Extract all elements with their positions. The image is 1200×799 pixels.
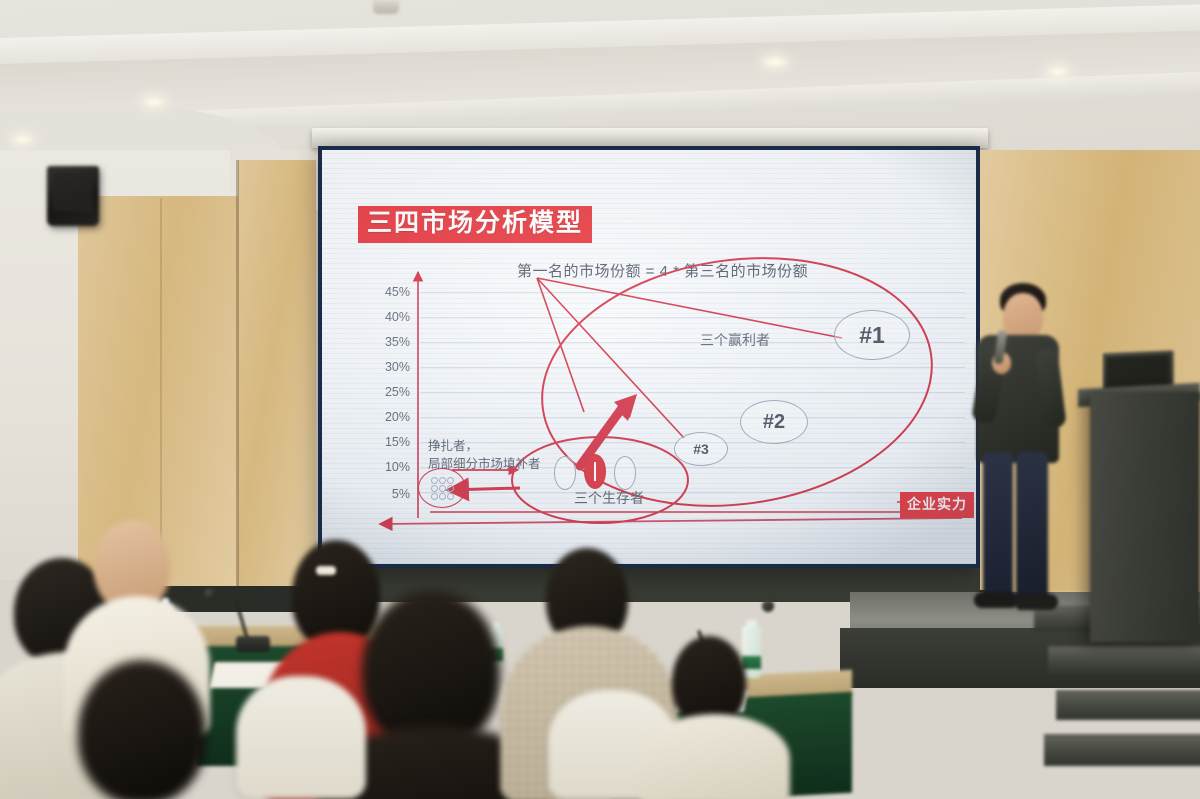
audience-member-shoulders <box>640 714 790 799</box>
wall-panel-seam <box>160 198 162 588</box>
survivors-group-label: 三个生存者 <box>574 488 644 508</box>
slide-canvas: 三四市场分析模型 第一名的市场份额 = 4 * 第三名的市场份额 45% 40%… <box>322 150 976 564</box>
podium <box>1090 392 1200 642</box>
strugglers-dot-grid <box>431 477 454 500</box>
node-rank-3: #3 <box>674 432 728 466</box>
node-rank-1: #1 <box>834 310 910 360</box>
hair-clip-icon <box>316 566 336 575</box>
presenter-head <box>1003 293 1043 341</box>
wall-speaker-icon <box>47 166 99 226</box>
projection-screen: 三四市场分析模型 第一名的市场份额 = 4 * 第三名的市场份额 45% 40%… <box>318 146 980 568</box>
survivor-node-highlighted <box>584 454 606 489</box>
stage-step <box>1056 690 1200 720</box>
wood-wall-panel <box>78 196 238 586</box>
downlight-icon <box>12 134 34 145</box>
strugglers-cluster-node <box>418 468 466 508</box>
wood-wall-panel <box>238 160 316 590</box>
presenter-shoe <box>974 592 1016 608</box>
stage-step <box>1044 734 1200 766</box>
node-rank-2: #2 <box>740 400 808 444</box>
microphone-base <box>236 636 270 652</box>
screen-housing <box>312 128 988 148</box>
conference-room-photo: 三四市场分析模型 第一名的市场份额 = 4 * 第三名的市场份额 45% 40%… <box>0 0 1200 799</box>
presenter-leg-right <box>1016 452 1048 602</box>
microphone-capsule-icon <box>762 600 774 612</box>
audience-member-head <box>78 660 206 799</box>
downlight-icon <box>762 56 788 68</box>
downlight-icon <box>1046 66 1070 78</box>
downlight-icon <box>142 96 166 108</box>
survivor-node <box>614 456 636 490</box>
x-axis-label: 企业实力 <box>900 492 974 518</box>
audience-chair <box>236 676 366 799</box>
strugglers-group-label-line1: 挣扎者， <box>428 438 478 455</box>
survivor-node <box>554 456 576 490</box>
sprinkler-head-icon <box>373 0 399 14</box>
presenter-shoe <box>1016 594 1058 610</box>
microphone-capsule-icon <box>204 588 216 600</box>
presenter-leg-left <box>983 452 1013 600</box>
winners-group-label: 三个赢利者 <box>700 330 770 350</box>
wall-panel-seam <box>236 160 239 590</box>
stage-step <box>1048 646 1200 674</box>
